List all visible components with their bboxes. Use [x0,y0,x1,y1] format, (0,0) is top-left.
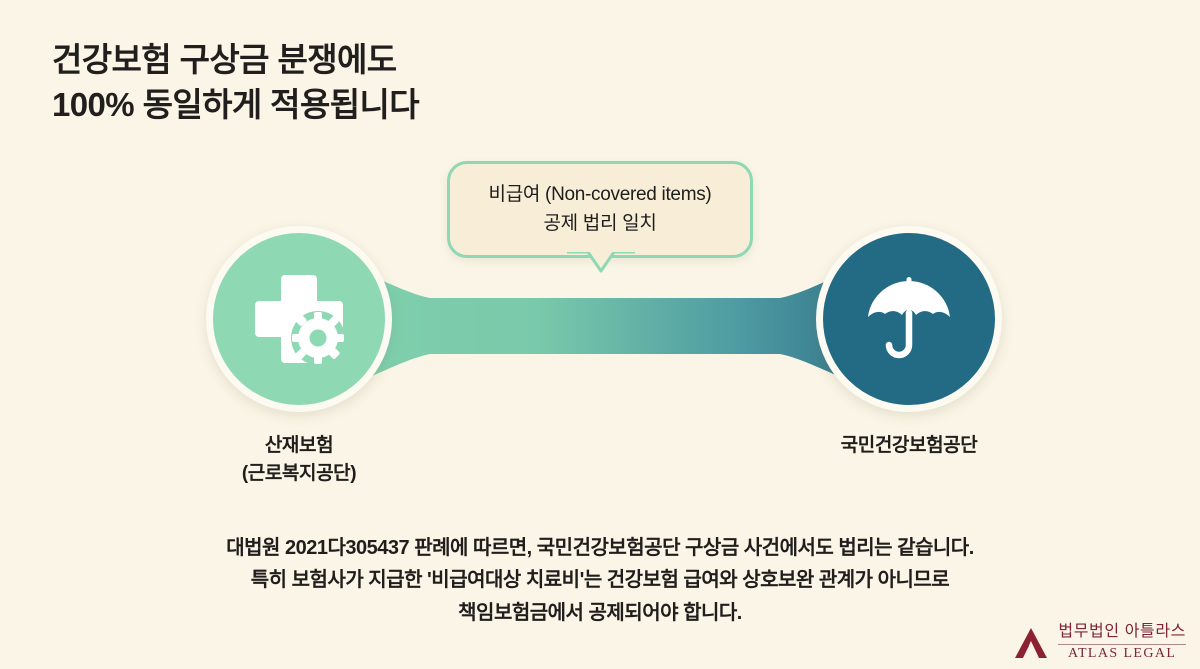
speech-bubble: 비급여 (Non-covered items) 공제 법리 일치 [447,161,753,258]
bubble-line-2: 공제 법리 일치 [543,210,656,239]
brand-name-ko: 법무법인 아틀라스 [1058,622,1186,642]
brand-logo-text: 법무법인 아틀라스 ATLAS LEGAL [1058,622,1186,663]
speech-bubble-tail [566,252,636,278]
summary-line-2: 특히 보험사가 지급한 '비급여대상 치료비'는 건강보험 급여와 상호보완 관… [0,564,1200,596]
umbrella-icon [859,269,959,369]
medical-cross-gear-icon [247,267,351,371]
brand-logo: 법무법인 아틀라스 ATLAS LEGAL [1013,622,1186,663]
node-left-caption-line-1: 산재보험 [199,432,399,460]
summary-paragraph: 대법원 2021다305437 판례에 따르면, 국민건강보험공단 구상금 사건… [0,532,1200,629]
node-left-caption-line-2: (근로복지공단) [199,460,399,488]
summary-line-1: 대법원 2021다305437 판례에 따르면, 국민건강보험공단 구상금 사건… [0,532,1200,564]
brand-name-en: ATLAS LEGAL [1068,646,1176,663]
bubble-line-1: 비급여 (Non-covered items) [489,181,712,210]
atlas-triangle-icon [1013,626,1049,660]
node-left-caption: 산재보험 (근로복지공단) [199,432,399,487]
node-right-caption-line-1: 국민건강보험공단 [809,432,1009,460]
node-industrial-accident-insurance[interactable] [206,226,392,412]
node-right-caption: 국민건강보험공단 [809,432,1009,460]
brand-logo-divider [1058,644,1186,645]
relationship-diagram: 산재보험 (근로복지공단) 국민건강보험공단 비급여 (Non-covered … [0,0,1200,520]
node-national-health-insurance-service[interactable] [816,226,1002,412]
